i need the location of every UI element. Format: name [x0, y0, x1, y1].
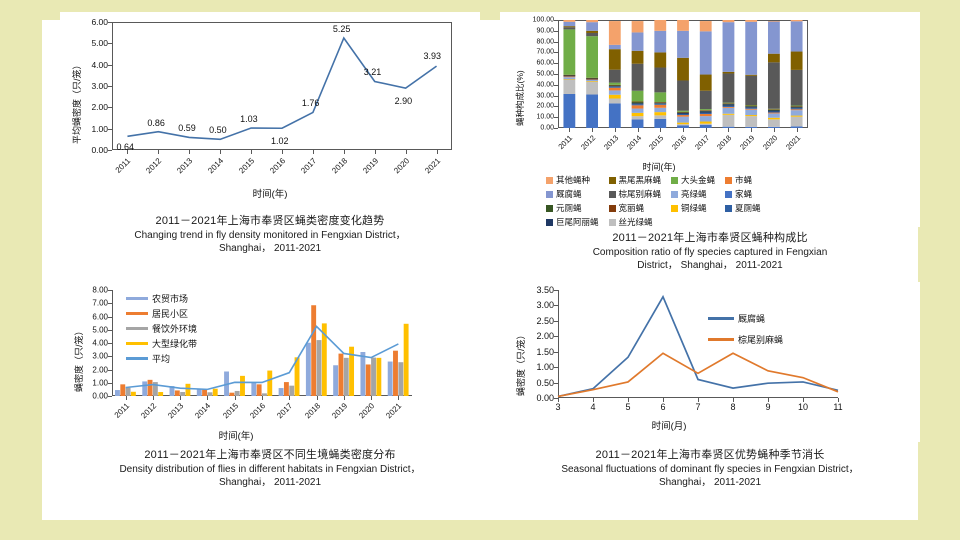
data-point-label: 0.59	[178, 123, 196, 133]
legend-item: 市蝇	[725, 174, 761, 186]
legend-label: 丝光绿蝇	[619, 216, 653, 228]
legend-line-icon	[126, 297, 148, 300]
legend-item: 餐饮外环境	[126, 322, 197, 335]
legend-label: 宽丽蝇	[619, 202, 645, 214]
x-axis-tick-label: 2013	[165, 156, 194, 185]
legend-label: 大头金蝇	[681, 174, 715, 186]
data-point-label: 0.50	[209, 125, 227, 135]
legend-item: 元厕蝇	[546, 202, 599, 214]
x-axis-tick-label: 2020	[382, 156, 411, 185]
x-axis-tick-mark	[344, 150, 345, 154]
caption-en-2: Shanghai， 2011-2021	[60, 242, 480, 256]
caption-en-2: Shanghai， 2011-2021	[60, 476, 480, 490]
legend-swatch-icon	[725, 177, 732, 184]
y-axis-tick-mark	[108, 150, 112, 151]
legend-item: 厩腐蝇	[708, 312, 783, 325]
y-axis-tick-mark	[108, 22, 112, 23]
legend-swatch-icon	[725, 191, 732, 198]
legend-line-icon	[126, 327, 148, 330]
caption-en-2: Shanghai， 2011-2021	[500, 476, 920, 490]
x-axis-tick-label: 2015	[227, 156, 256, 185]
legend-swatch-icon	[671, 177, 678, 184]
x-axis-tick-mark	[313, 150, 314, 154]
x-axis-tick-mark	[158, 150, 159, 154]
chart-legend: 其他蝇种黑尾黑麻蝇大头金蝇市蝇厩腐蝇棕尾别麻蝇亮绿蝇家蝇元厕蝇宽丽蝇铜绿蝇夏厕蝇…	[546, 174, 761, 228]
legend-swatch-icon	[546, 177, 553, 184]
caption-en-1: Changing trend in fly density monitored …	[60, 229, 480, 243]
caption-en-1: Density distribution of flies in differe…	[60, 463, 480, 477]
data-point-label: 5.25	[333, 24, 351, 34]
y-axis-tick-mark	[108, 86, 112, 87]
legend-item: 棕尾别麻蝇	[609, 188, 662, 200]
chart-seasonal-fluctuation: 0.000.501.001.502.002.503.003.50蝇密度（只/笼）…	[500, 282, 920, 442]
y-axis-tick-label: 6.00	[78, 17, 108, 27]
legend-label: 黑尾黑麻蝇	[619, 174, 662, 186]
legend-label: 铜绿蝇	[681, 202, 707, 214]
x-axis-tick-mark	[282, 150, 283, 154]
plot-frame	[112, 22, 452, 150]
legend-item: 家蝇	[725, 188, 761, 200]
legend-item: 宽丽蝇	[609, 202, 662, 214]
legend-item: 平均	[126, 352, 197, 365]
legend-item: 大型绿化带	[126, 337, 197, 350]
legend-item: 厩腐蝇	[546, 188, 599, 200]
chart-legend: 农贸市场居民小区餐饮外环境大型绿化带平均	[126, 292, 197, 367]
legend-swatch-icon	[546, 205, 553, 212]
legend-label: 夏厕蝇	[735, 202, 761, 214]
caption-en-1: Composition ratio of fly species capture…	[500, 246, 920, 260]
legend-label: 家蝇	[735, 188, 752, 200]
legend-label: 大型绿化带	[152, 337, 197, 350]
y-axis-tick-mark	[108, 129, 112, 130]
data-point-label: 3.21	[364, 67, 382, 77]
x-axis-tick-label: 2019	[351, 156, 380, 185]
data-point-label: 1.76	[302, 98, 320, 108]
caption-fly-density-trend: 2011－2021年上海市奉贤区蝇类密度变化趋势 Changing trend …	[60, 214, 480, 256]
y-axis-tick-mark	[108, 65, 112, 66]
y-axis-label: 平均蝇密度（只/笼）	[70, 60, 83, 144]
figure-seasonal-fluctuation: 0.000.501.001.502.002.503.003.50蝇密度（只/笼）…	[500, 282, 920, 512]
caption-en-2: District， Shanghai， 2011-2021	[500, 259, 920, 273]
data-point-label: 1.02	[271, 136, 289, 146]
caption-cn: 2011－2021年上海市奉贤区蝇类密度变化趋势	[60, 214, 480, 229]
data-point-label: 0.64	[116, 142, 134, 152]
x-axis-label: 时间(年)	[60, 186, 480, 200]
x-axis-tick-mark	[375, 150, 376, 154]
y-axis-tick-mark	[108, 43, 112, 44]
legend-line-icon	[126, 312, 148, 315]
legend-line-icon	[126, 357, 148, 360]
chart-species-composition: 0.0010.0020.0030.0040.0050.0060.0070.008…	[500, 12, 920, 227]
y-axis-tick-label: 5.00	[78, 38, 108, 48]
figure-fly-density-trend: 0.001.002.003.004.005.006.00平均蝇密度（只/笼）20…	[60, 12, 480, 282]
legend-label: 居民小区	[152, 307, 188, 320]
x-axis-tick-label: 2014	[196, 156, 225, 185]
legend-item: 黑尾黑麻蝇	[609, 174, 662, 186]
legend-swatch-icon	[725, 205, 732, 212]
chart-habitat-density: 0.001.002.003.004.005.006.007.008.00蝇密度（…	[60, 282, 480, 442]
x-axis-tick-label: 2011	[104, 156, 133, 185]
slide-background: 0.001.002.003.004.005.006.00平均蝇密度（只/笼）20…	[0, 0, 960, 540]
legend-label: 元厕蝇	[556, 202, 582, 214]
caption-cn: 2011－2021年上海市奉贤区蝇种构成比	[500, 231, 920, 246]
y-axis-tick-label: 0.00	[78, 145, 108, 155]
caption-cn: 2011－2021年上海市奉贤区优势蝇种季节消长	[500, 448, 920, 463]
caption-species-composition: 2011－2021年上海市奉贤区蝇种构成比 Composition ratio …	[500, 231, 920, 273]
chart-fly-density-trend: 0.001.002.003.004.005.006.00平均蝇密度（只/笼）20…	[60, 12, 480, 208]
chart-legend: 厩腐蝇棕尾别麻蝇	[708, 312, 783, 354]
legend-item: 其他蝇种	[546, 174, 599, 186]
caption-habitat-density: 2011－2021年上海市奉贤区不同生境蝇类密度分布 Density distr…	[60, 448, 480, 490]
caption-cn: 2011－2021年上海市奉贤区不同生境蝇类密度分布	[60, 448, 480, 463]
legend-swatch-icon	[609, 177, 616, 184]
legend-swatch-icon	[671, 191, 678, 198]
data-point-label: 2.90	[395, 96, 413, 106]
legend-label: 农贸市场	[152, 292, 188, 305]
legend-item: 农贸市场	[126, 292, 197, 305]
legend-item: 夏厕蝇	[725, 202, 761, 214]
caption-en-1: Seasonal fluctuations of dominant fly sp…	[500, 463, 920, 477]
x-axis-tick-label: 2018	[320, 156, 349, 185]
legend-swatch-icon	[671, 205, 678, 212]
legend-label: 厩腐蝇	[556, 188, 582, 200]
y-axis-tick-mark	[108, 107, 112, 108]
legend-item: 大头金蝇	[671, 174, 715, 186]
legend-line-icon	[708, 317, 734, 320]
legend-item: 亮绿蝇	[671, 188, 715, 200]
x-axis-tick-label: 2017	[289, 156, 318, 185]
legend-label: 市蝇	[735, 174, 752, 186]
x-axis-tick-label: 2012	[135, 156, 164, 185]
legend-item: 丝光绿蝇	[609, 216, 662, 228]
legend-swatch-icon	[609, 205, 616, 212]
legend-label: 巨尾阿丽蝇	[556, 216, 599, 228]
x-axis-tick-label: 2016	[258, 156, 287, 185]
legend-label: 亮绿蝇	[681, 188, 707, 200]
legend-swatch-icon	[546, 219, 553, 226]
x-axis-tick-mark	[251, 150, 252, 154]
legend-swatch-icon	[609, 191, 616, 198]
legend-line-icon	[708, 338, 734, 341]
legend-label: 棕尾别麻蝇	[619, 188, 662, 200]
figure-species-composition: 0.0010.0020.0030.0040.0050.0060.0070.008…	[500, 12, 920, 302]
legend-label: 平均	[152, 352, 170, 365]
legend-item: 巨尾阿丽蝇	[546, 216, 599, 228]
x-axis-tick-mark	[220, 150, 221, 154]
legend-item: 居民小区	[126, 307, 197, 320]
legend-item: 铜绿蝇	[671, 202, 715, 214]
x-axis-tick-label: 2021	[413, 156, 442, 185]
legend-swatch-icon	[609, 219, 616, 226]
legend-line-icon	[126, 342, 148, 345]
legend-label: 棕尾别麻蝇	[738, 333, 783, 346]
figure-habitat-density: 0.001.002.003.004.005.006.007.008.00蝇密度（…	[60, 282, 480, 512]
legend-item: 棕尾别麻蝇	[708, 333, 783, 346]
x-axis-tick-mark	[437, 150, 438, 154]
data-point-label: 0.86	[147, 118, 165, 128]
data-point-label: 3.93	[424, 51, 442, 61]
legend-label: 餐饮外环境	[152, 322, 197, 335]
caption-seasonal-fluctuation: 2011－2021年上海市奉贤区优势蝇种季节消长 Seasonal fluctu…	[500, 448, 920, 490]
x-axis-tick-mark	[406, 150, 407, 154]
legend-swatch-icon	[546, 191, 553, 198]
legend-label: 其他蝇种	[556, 174, 590, 186]
data-point-label: 1.03	[240, 114, 258, 124]
legend-label: 厩腐蝇	[738, 312, 765, 325]
x-axis-tick-mark	[189, 150, 190, 154]
